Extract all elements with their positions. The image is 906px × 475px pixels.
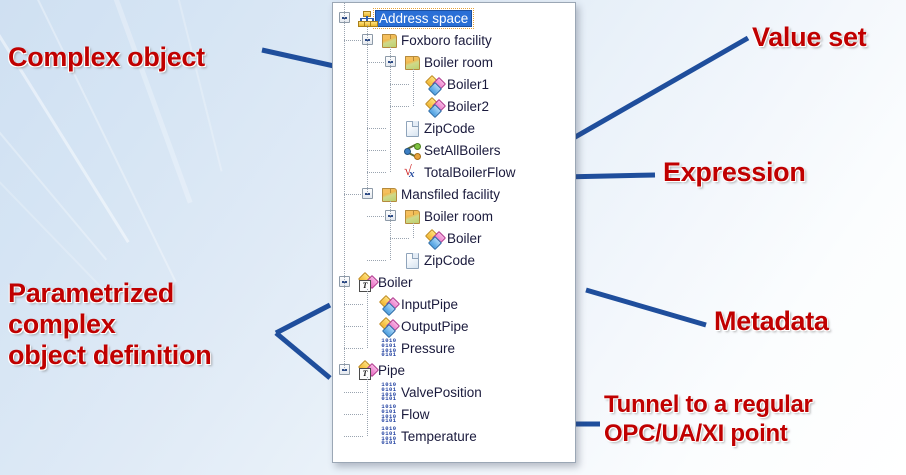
tree-guide-line [344, 414, 363, 416]
decorative-streak [148, 0, 223, 172]
tree-node-label[interactable]: TotalBoilerFlow [421, 165, 516, 180]
tree-node[interactable]: Mansfiled facility [333, 183, 575, 205]
expression-icon: √x [403, 164, 421, 181]
tree-node[interactable]: TBoiler [333, 271, 575, 293]
tree-node-label[interactable]: Boiler [375, 275, 413, 290]
tree-node-label[interactable]: Address space [375, 10, 472, 27]
tree-guide-line [367, 216, 386, 218]
decorative-streak [85, 0, 192, 204]
tree-guide-line [367, 172, 386, 174]
tree-guide-line [367, 62, 386, 64]
tree-guide-line [390, 201, 392, 260]
value-set-icon [403, 252, 421, 269]
tree-view[interactable]: Address spaceFoxboro facilityBoiler room… [333, 3, 575, 447]
folder-icon [380, 186, 398, 203]
folder-icon [403, 54, 421, 71]
tree-guide-line [390, 47, 392, 172]
decorative-streak [0, 60, 107, 260]
tree-guide-line [367, 377, 369, 436]
tree-guide-line [413, 223, 415, 238]
binary-point-icon: 1010010110100101 [380, 405, 398, 423]
tree-guide-line [344, 304, 363, 306]
complex-object-icon [380, 318, 398, 335]
tree-node[interactable]: Boiler2 [333, 95, 575, 117]
annotation-expression: Expression [663, 157, 806, 188]
tree-node[interactable]: 1010010110100101Temperature [333, 425, 575, 447]
tree-guide-line [413, 69, 415, 106]
tree-node-label[interactable]: Boiler [444, 231, 482, 246]
tree-node[interactable]: OutputPipe [333, 315, 575, 337]
tree-guide-line [344, 194, 363, 196]
tree-guide-line [367, 25, 369, 194]
tree-guide-line [367, 289, 369, 348]
folder-icon [403, 208, 421, 225]
complex-object-icon [380, 296, 398, 313]
tree-guide-line [367, 150, 386, 152]
tree-guide-line [344, 348, 363, 350]
decorative-streak [0, 0, 130, 243]
tree-node[interactable]: Boiler [333, 227, 575, 249]
decorative-streak [0, 150, 109, 295]
tree-guide-line [344, 326, 363, 328]
folder-icon [380, 32, 398, 49]
annotation-parametrized-definition: Parametrized complex object definition [8, 278, 211, 371]
tree-node[interactable]: Address space [333, 7, 575, 29]
complex-object-icon [426, 230, 444, 247]
tree-guide-line [344, 436, 363, 438]
tree-guide-line [367, 260, 386, 262]
template-object-icon: T [357, 274, 375, 291]
root-hierarchy-icon [357, 10, 375, 27]
tree-node-label[interactable]: Flow [398, 407, 430, 422]
tree-node-label[interactable]: ValvePosition [398, 385, 482, 400]
tree-node-label[interactable]: ZipCode [421, 121, 475, 136]
value-set-icon [403, 120, 421, 137]
tree-node[interactable]: InputPipe [333, 293, 575, 315]
tree-node-label[interactable]: InputPipe [398, 297, 458, 312]
tree-node-label[interactable]: OutputPipe [398, 319, 469, 334]
tree-guide-line [390, 238, 409, 240]
tree-guide-line [390, 84, 409, 86]
tree-node-label[interactable]: Pipe [375, 363, 405, 378]
binary-point-icon: 1010010110100101 [380, 383, 398, 401]
complex-object-icon [426, 76, 444, 93]
template-object-icon: T [357, 362, 375, 379]
tree-node-label[interactable]: Boiler1 [444, 77, 489, 92]
tree-guide-line [344, 40, 363, 42]
address-space-tree-panel[interactable]: Address spaceFoxboro facilityBoiler room… [332, 2, 576, 463]
method-share-icon [403, 142, 421, 159]
tree-node[interactable]: 1010010110100101Flow [333, 403, 575, 425]
tree-node-label[interactable]: Mansfiled facility [398, 187, 500, 202]
tree-node-label[interactable]: Boiler room [421, 55, 493, 70]
tree-guide-line [344, 3, 346, 370]
tree-node-label[interactable]: Temperature [398, 429, 477, 444]
tree-node[interactable]: Foxboro facility [333, 29, 575, 51]
tree-node[interactable]: 1010010110100101ValvePosition [333, 381, 575, 403]
tree-node-label[interactable]: ZipCode [421, 253, 475, 268]
slide-canvas: Complex object Parametrized complex obje… [0, 0, 906, 475]
annotation-metadata: Metadata [714, 306, 829, 337]
tree-node[interactable]: 1010010110100101Pressure [333, 337, 575, 359]
complex-object-icon [426, 98, 444, 115]
annotation-tunnel-point: Tunnel to a regular OPC/UA/XI point [604, 390, 813, 448]
tree-node-label[interactable]: Boiler room [421, 209, 493, 224]
tree-node[interactable]: Boiler1 [333, 73, 575, 95]
tree-node-label[interactable]: Foxboro facility [398, 33, 492, 48]
tree-guide-line [344, 392, 363, 394]
tree-node[interactable]: TPipe [333, 359, 575, 381]
binary-point-icon: 1010010110100101 [380, 339, 398, 357]
annotation-complex-object: Complex object [8, 42, 205, 73]
tree-guide-line [367, 128, 386, 130]
tree-node-label[interactable]: Boiler2 [444, 99, 489, 114]
tree-guide-line [390, 106, 409, 108]
annotation-value-set: Value set [752, 22, 866, 53]
tree-node-label[interactable]: Pressure [398, 341, 455, 356]
binary-point-icon: 1010010110100101 [380, 427, 398, 445]
tree-node-label[interactable]: SetAllBoilers [421, 143, 501, 158]
